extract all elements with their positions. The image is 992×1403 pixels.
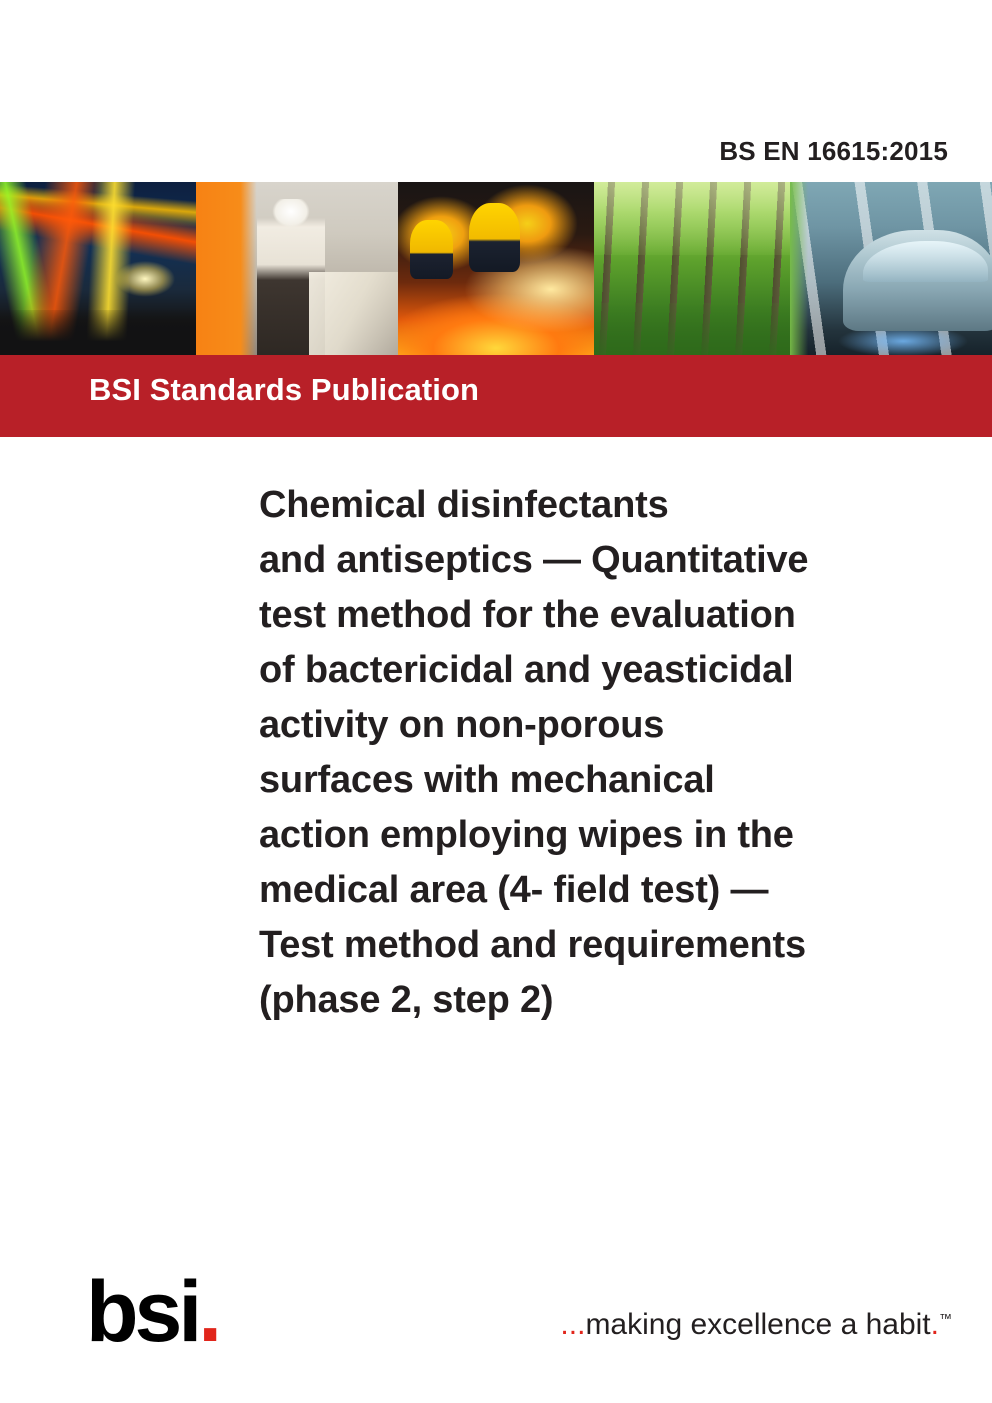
- title-line: activity on non-porous: [259, 698, 939, 753]
- publisher-banner-label: BSI Standards Publication: [89, 372, 479, 408]
- tagline-leading-dots: ...: [560, 1308, 585, 1341]
- bsi-logo: bsi.: [86, 1269, 222, 1355]
- photo-panel-warehouse-worker: [196, 182, 398, 355]
- page-footer: bsi. ...making excellence a habit.™: [0, 1243, 992, 1403]
- photo-panel-forest: [594, 182, 790, 355]
- title-line: Chemical disinfectants: [259, 478, 939, 533]
- title-line: of bactericidal and yeasticidal: [259, 643, 939, 698]
- title-line: Test method and requirements: [259, 918, 939, 973]
- trademark-icon: ™: [939, 1311, 952, 1326]
- photo-panel-car-assembly-line: [790, 182, 992, 355]
- title-line: test method for the evaluation: [259, 588, 939, 643]
- tagline-period: .: [931, 1308, 939, 1341]
- photo-panel-night-traffic-light-trails: [0, 182, 196, 355]
- photo-panel-firefighters: [398, 182, 594, 355]
- tagline-text: making excellence a habit: [585, 1308, 930, 1341]
- page-title: Chemical disinfectants and antiseptics —…: [259, 478, 939, 1028]
- title-line: action employing wipes in the: [259, 808, 939, 863]
- bsi-tagline: ...making excellence a habit.™: [560, 1303, 952, 1341]
- title-line: and antiseptics — Quantitative: [259, 533, 939, 588]
- bsi-logo-dot: .: [198, 1264, 222, 1360]
- bsi-logo-wordmark: bsi: [86, 1264, 198, 1360]
- title-line: medical area (4- field test) —: [259, 863, 939, 918]
- standard-number: BS EN 16615:2015: [719, 136, 948, 167]
- title-line: surfaces with mechanical: [259, 753, 939, 808]
- cover-photo-strip: [0, 182, 992, 355]
- publisher-banner: BSI Standards Publication: [0, 355, 992, 437]
- title-line: (phase 2, step 2): [259, 973, 939, 1028]
